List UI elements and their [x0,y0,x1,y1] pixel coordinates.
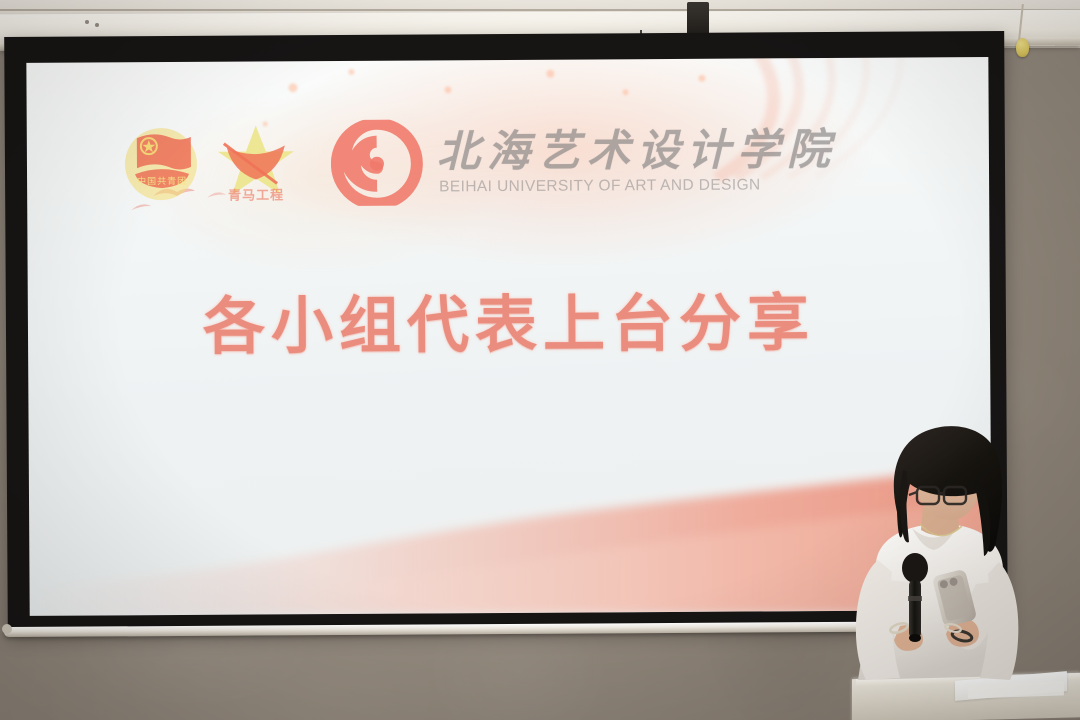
presentation-room-photo: 中国共青团 青马工程 [0,0,1080,720]
presenter-figure [0,0,1080,720]
